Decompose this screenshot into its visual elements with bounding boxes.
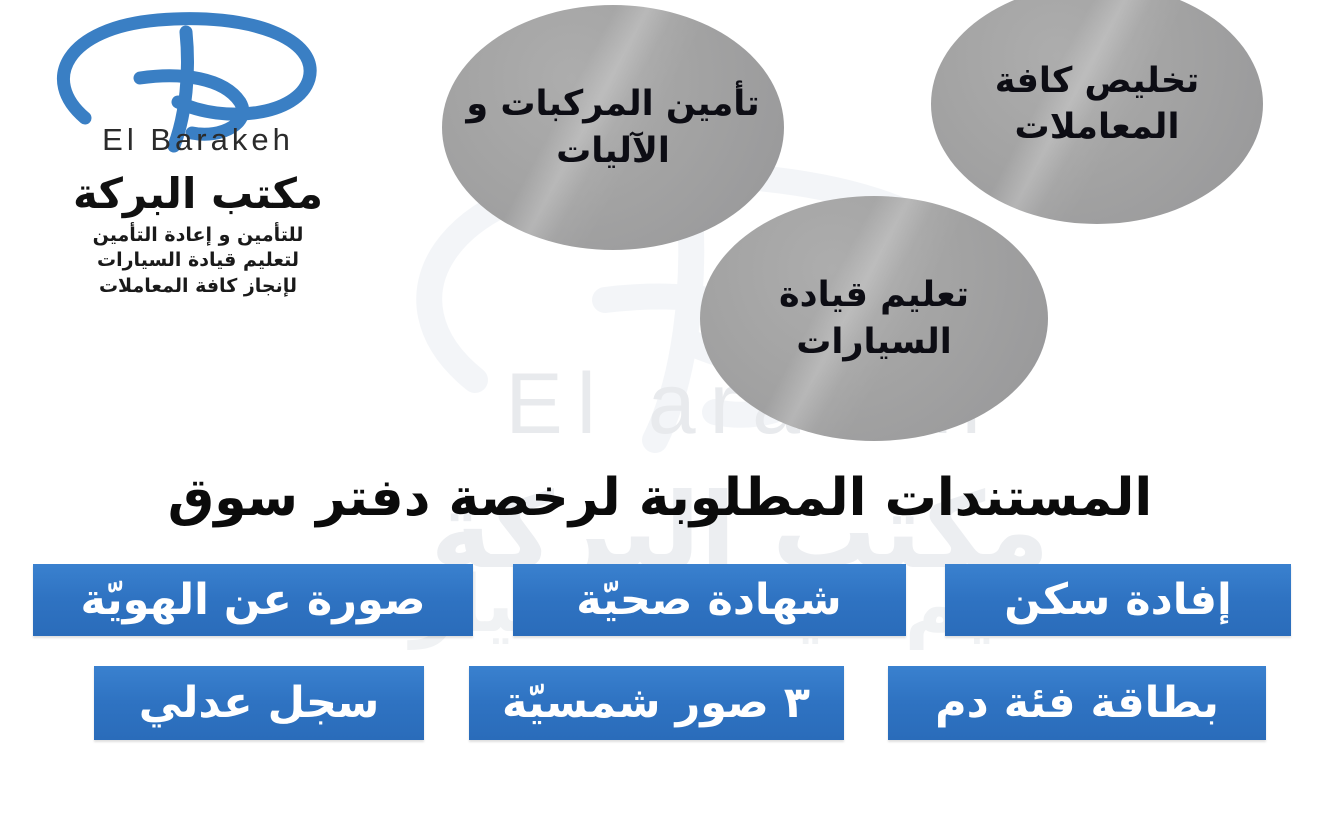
document-label-three-photos: ٣ صور شمسيّة (502, 678, 810, 728)
document-label-housing-statement: إفادة سكن (1004, 575, 1231, 625)
document-chip-housing-statement[interactable]: إفادة سكن (945, 564, 1291, 636)
document-label-criminal-record: سجل عدلي (139, 678, 380, 728)
document-label-blood-type-card: بطاقة فئة دم (935, 678, 1219, 728)
service-bubble-vehicle-insurance[interactable]: تأمين المركبات و الآليات (442, 5, 784, 250)
logo-arabic-name: مكتب البركة (28, 172, 368, 216)
logo-latin-name: El Barakeh (28, 122, 368, 158)
service-label-driving-school: تعليم قيادة السيارات (700, 272, 1048, 364)
service-label-vehicle-insurance: تأمين المركبات و الآليات (442, 81, 784, 173)
document-chip-criminal-record[interactable]: سجل عدلي (94, 666, 424, 740)
document-row-1: إفادة سكن شهادة صحيّة صورة عن الهويّة (33, 564, 1291, 636)
section-heading: المستندات المطلوبة لرخصة دفتر سوق (0, 468, 1320, 528)
document-chip-three-photos[interactable]: ٣ صور شمسيّة (469, 666, 844, 740)
document-chip-health-certificate[interactable]: شهادة صحيّة (513, 564, 906, 636)
company-logo: El Barakeh مكتب البركة للتأمين و إعادة ا… (28, 6, 368, 299)
document-chip-blood-type-card[interactable]: بطاقة فئة دم (888, 666, 1266, 740)
logo-tagline-driving: لتعليم قيادة السيارات (28, 248, 368, 273)
logo-swirl-icon: El Barakeh (28, 6, 368, 166)
logo-tagline-insurance: للتأمين و إعادة التأمين (28, 223, 368, 248)
logo-taglines: للتأمين و إعادة التأمين لتعليم قيادة الس… (28, 223, 368, 299)
service-bubble-driving-school[interactable]: تعليم قيادة السيارات (700, 196, 1048, 441)
logo-tagline-transactions: لإنجاز كافة المعاملات (28, 274, 368, 299)
document-label-id-copy: صورة عن الهويّة (80, 575, 425, 625)
document-row-2: بطاقة فئة دم ٣ صور شمسيّة سجل عدلي (94, 666, 1266, 740)
service-bubble-transaction-clearing[interactable]: تخليص كافة المعاملات (931, 0, 1263, 224)
document-label-health-certificate: شهادة صحيّة (576, 575, 841, 625)
service-label-transaction-clearing: تخليص كافة المعاملات (931, 58, 1263, 150)
poster-canvas: El arakeh مكتب البركة لتعليم قيادة السيا… (0, 0, 1320, 813)
document-chip-id-copy[interactable]: صورة عن الهويّة (33, 564, 473, 636)
